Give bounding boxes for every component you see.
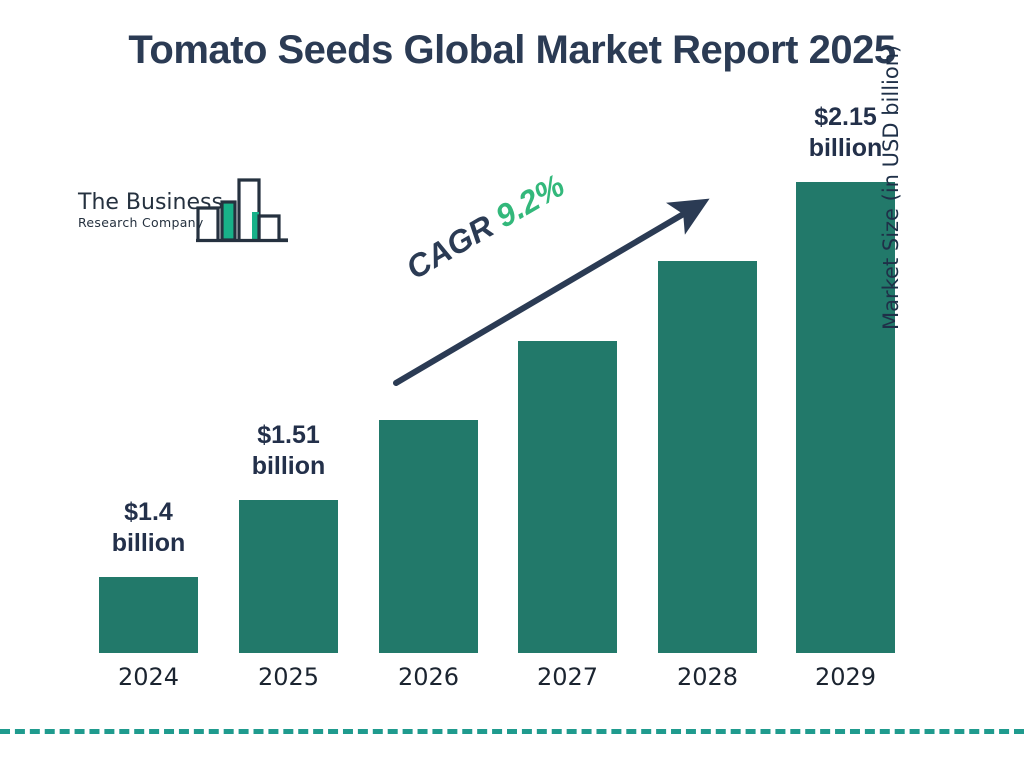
x-axis-tick-2026: 2026 (369, 663, 489, 691)
bar-chart-logo-mark-icon (196, 176, 288, 251)
footer-divider (0, 729, 1024, 734)
x-axis-tick-2027: 2027 (508, 663, 628, 691)
bar-2026 (379, 420, 478, 653)
chart-canvas: Tomato Seeds Global Market Report 2025 T… (0, 0, 1024, 768)
page-title: Tomato Seeds Global Market Report 2025 (0, 28, 1024, 73)
y-axis-title: Market Size (in USD billion) (879, 0, 903, 330)
growth-arrow-icon (380, 185, 720, 400)
x-axis-tick-2025: 2025 (229, 663, 349, 691)
bar-value-amount: $1.51 (209, 420, 369, 451)
bar-value-unit: billion (69, 528, 229, 559)
company-logo: The Business Research Company (78, 176, 288, 246)
bar-2025 (239, 500, 338, 653)
bar-value-amount: $1.4 (69, 497, 229, 528)
x-axis-tick-2029: 2029 (786, 663, 906, 691)
bar-2024 (99, 577, 198, 653)
bar-value-unit: billion (209, 451, 369, 482)
bar-value-label-2024: $1.4billion (69, 497, 229, 559)
bar-value-label-2025: $1.51billion (209, 420, 369, 482)
x-axis-tick-2024: 2024 (89, 663, 209, 691)
x-axis-tick-2028: 2028 (648, 663, 768, 691)
